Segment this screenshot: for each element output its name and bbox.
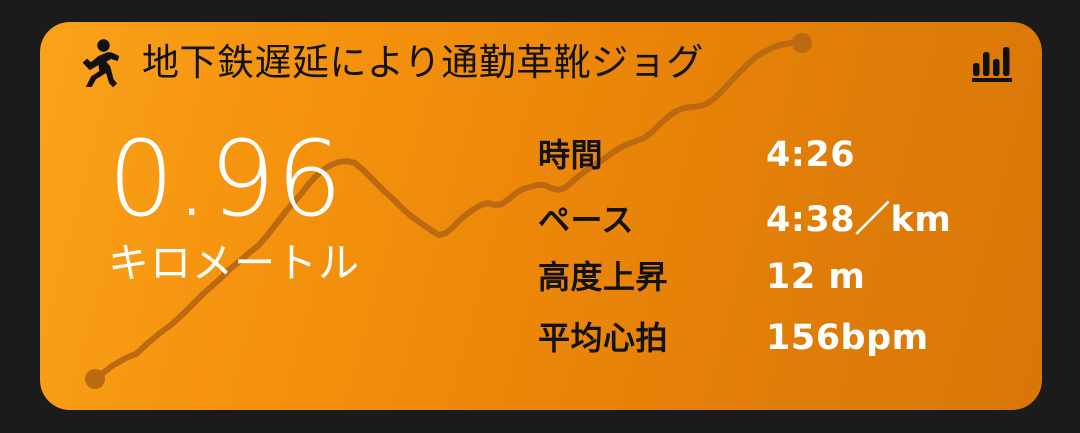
card-header: 地下鉄遅延により通勤革靴ジョグ	[40, 22, 1042, 104]
activity-summary-card[interactable]: 地下鉄遅延により通勤革靴ジョグ 0.96 キロメートル 時間 4:26 ペース	[40, 22, 1042, 410]
stat-label-pace: ペース	[538, 195, 766, 241]
stats-table: 時間 4:26 ペース 4:38／km 高度上昇 12 m 平均心拍 156bp…	[538, 130, 1008, 374]
activity-title: 地下鉄遅延により通勤革靴ジョグ	[142, 43, 956, 84]
stat-label-elevation-gain: 高度上昇	[538, 252, 766, 298]
running-person-icon	[76, 38, 122, 88]
distance-block: 0.96 キロメートル	[108, 130, 528, 286]
stat-value-average-heart-rate: 156bpm	[766, 318, 929, 358]
stat-value-pace: 4:38／km	[766, 191, 951, 242]
stat-row-duration: 時間 4:26	[538, 130, 1008, 191]
distance-unit: キロメートル	[108, 241, 528, 286]
distance-value: 0.96	[108, 130, 528, 229]
stat-value-elevation-gain: 12 m	[766, 257, 865, 297]
stat-value-duration: 4:26	[766, 135, 855, 175]
app-screen: 地下鉄遅延により通勤革靴ジョグ 0.96 キロメートル 時間 4:26 ペース	[0, 0, 1080, 433]
stat-label-average-heart-rate: 平均心拍	[538, 313, 766, 359]
stat-row-pace: ペース 4:38／km	[538, 191, 1008, 252]
stat-row-average-heart-rate: 平均心拍 156bpm	[538, 313, 1008, 374]
stat-row-elevation-gain: 高度上昇 12 m	[538, 252, 1008, 313]
bar-chart-icon[interactable]	[970, 43, 1014, 83]
stat-label-duration: 時間	[538, 130, 766, 176]
route-start-marker	[85, 369, 105, 389]
